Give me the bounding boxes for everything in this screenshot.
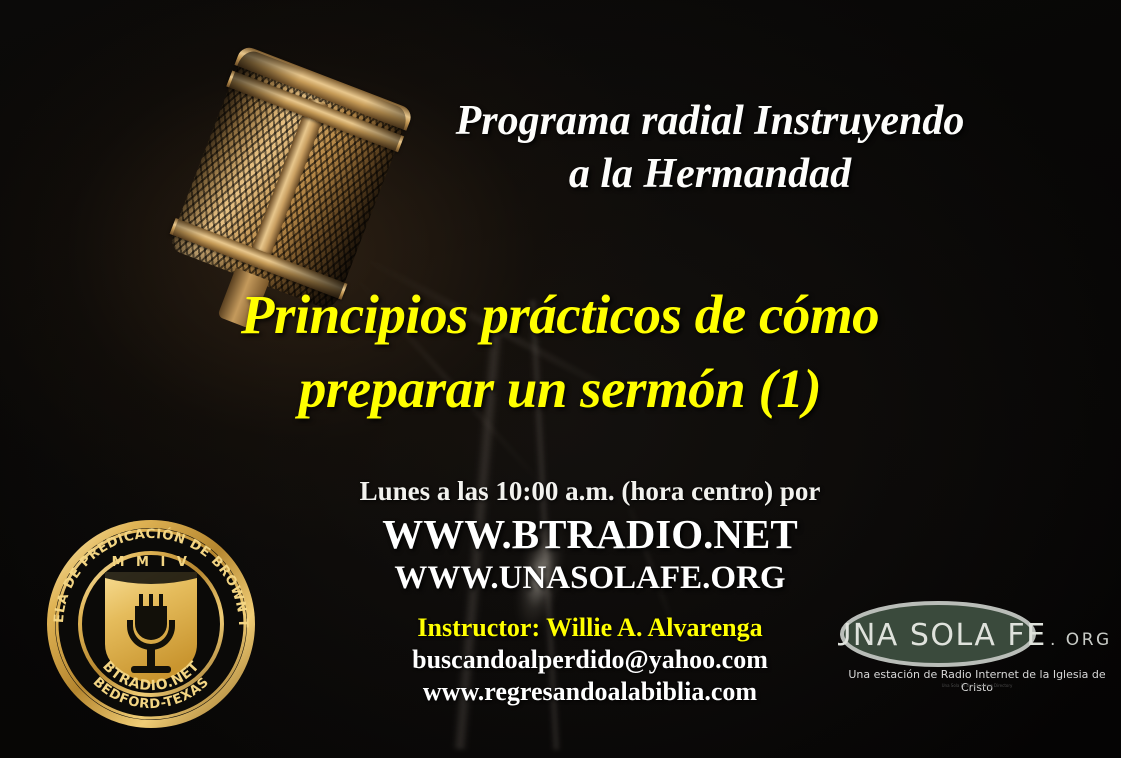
una-sola-fe-tld: . ORG (1050, 630, 1112, 650)
lesson-title-line1: Principios prácticos de cómo (241, 284, 879, 345)
program-header-line2: a la Hermandad (330, 151, 1090, 198)
contact-website[interactable]: www.regresandoalabiblia.com (300, 677, 880, 706)
una-sola-fe-tagline: Una estación de Radio Internet de la Igl… (838, 668, 1116, 694)
una-sola-fe-graphic: UNA SOLA FE . ORG (838, 600, 1116, 668)
program-header: Programa radial Instruyendo a la Hermand… (330, 98, 1090, 198)
lesson-title-line2: preparar un sermón (1) (90, 358, 1030, 420)
primary-website[interactable]: WWW.BTRADIO.NET (300, 512, 880, 558)
secondary-website[interactable]: WWW.UNASOLAFE.ORG (300, 560, 880, 597)
broadcast-schedule: Lunes a las 10:00 a.m. (hora centro) por (300, 476, 880, 506)
brown-trail-school-seal: ESCUELA DE PREDICACIÓN DE BROWN TRAIL BE… (43, 516, 258, 731)
lesson-title: Principios prácticos de cómo preparar un… (90, 284, 1030, 419)
una-sola-fe-fine-print: Una Sola Fe Broadcasting Direc­tory (838, 683, 1116, 688)
contact-email[interactable]: buscandoalperdido@yahoo.com (300, 645, 880, 674)
instructor-name: Instructor: Willie A. Alvarenga (300, 613, 880, 642)
una-sola-fe-logo[interactable]: UNA SOLA FE . ORG Una estación de Radio … (838, 600, 1116, 698)
seal-graphic: ESCUELA DE PREDICACIÓN DE BROWN TRAIL BE… (43, 516, 258, 731)
radio-program-poster: Programa radial Instruyendo a la Hermand… (0, 0, 1121, 758)
seal-year-text: M M I V (112, 555, 191, 570)
una-sola-fe-mark: UNA SOLA FE . ORG (838, 600, 1116, 668)
una-sola-fe-wordmark: UNA SOLA FE (838, 618, 1047, 653)
program-header-line1: Programa radial Instruyendo (456, 98, 965, 144)
